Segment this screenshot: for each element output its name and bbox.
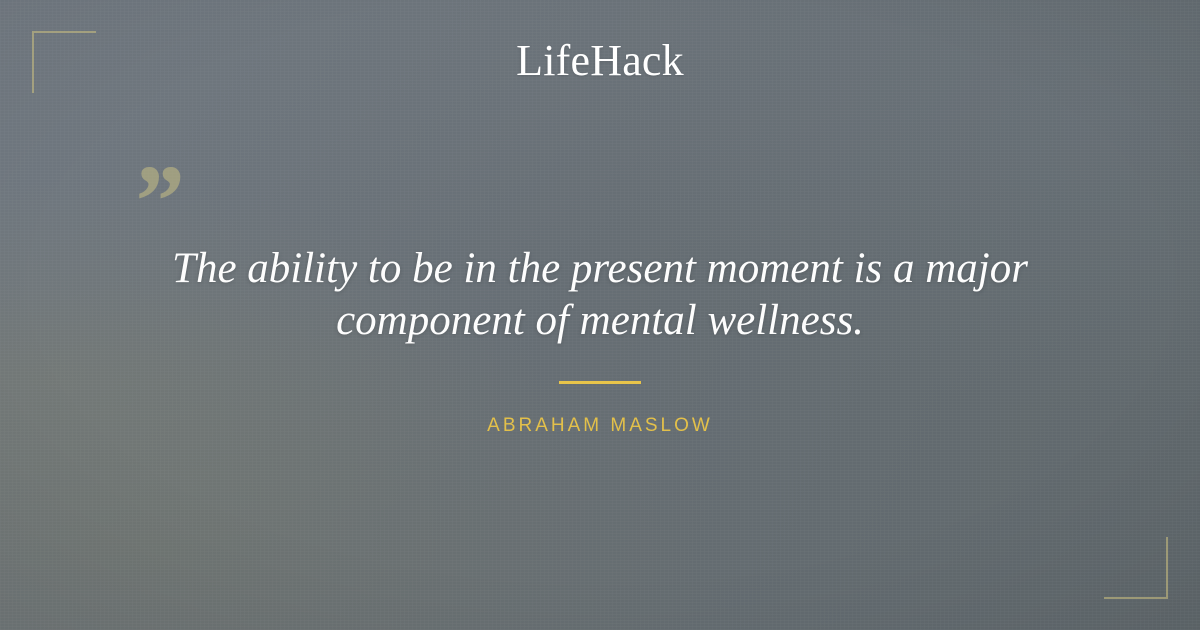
divider-container xyxy=(0,381,1200,384)
corner-bracket-bottom-right-icon xyxy=(1104,537,1168,599)
quote-line-1: The ability to be in the present moment … xyxy=(140,243,1060,295)
quote-author: ABRAHAM MASLOW xyxy=(0,414,1200,438)
quote-line-2: component of mental wellness. xyxy=(140,295,1060,347)
lifehack-logo[interactable]: LifeHack xyxy=(0,38,1200,84)
gold-divider xyxy=(559,381,641,384)
quotation-mark-icon: ” xyxy=(130,150,182,254)
quote-text: The ability to be in the present moment … xyxy=(140,243,1060,347)
quote-card: LifeHack ” The ability to be in the pres… xyxy=(0,0,1200,630)
